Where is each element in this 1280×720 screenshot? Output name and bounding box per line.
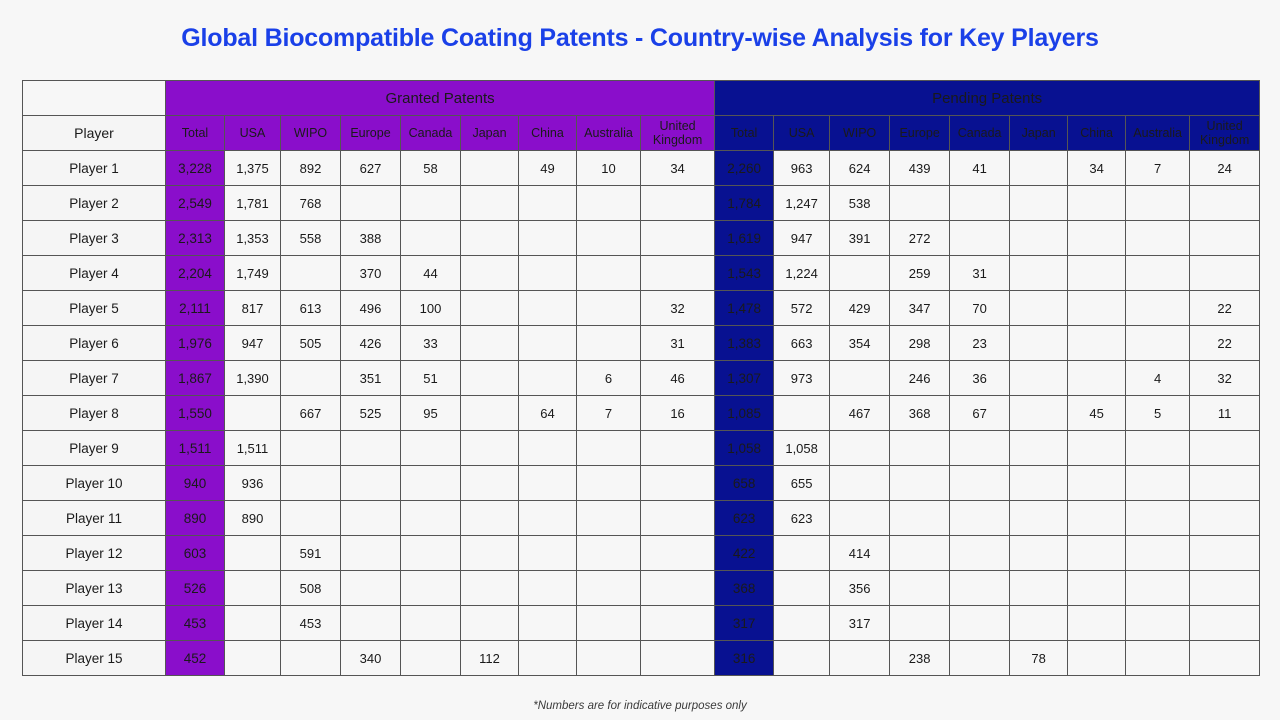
cell-pending-total: 368: [715, 571, 774, 606]
cell-granted-japan: [461, 151, 519, 186]
cell-granted-wipo: 508: [281, 571, 341, 606]
cell-granted-japan: [461, 361, 519, 396]
cell-pending-united-kingdom: [1190, 466, 1260, 501]
row-label-player: Player 6: [23, 326, 166, 361]
cell-granted-europe: [341, 606, 401, 641]
cell-pending-united-kingdom: [1190, 571, 1260, 606]
cell-granted-usa: [225, 536, 281, 571]
cell-granted-total: 890: [166, 501, 225, 536]
cell-granted-canada: [401, 431, 461, 466]
cell-pending-canada: 31: [950, 256, 1010, 291]
row-label-player: Player 4: [23, 256, 166, 291]
cell-granted-united-kingdom: 46: [641, 361, 715, 396]
cell-pending-total: 1,058: [715, 431, 774, 466]
cell-pending-wipo: [830, 466, 890, 501]
cell-pending-japan: [1010, 326, 1068, 361]
column-header-row: PlayerTotalUSAWIPOEuropeCanadaJapanChina…: [23, 116, 1260, 151]
col-header-granted-europe: Europe: [341, 116, 401, 151]
cell-granted-wipo: [281, 431, 341, 466]
table-row: Player 52,111817613496100321,47857242934…: [23, 291, 1260, 326]
cell-pending-wipo: 317: [830, 606, 890, 641]
group-header-granted: Granted Patents: [166, 81, 715, 116]
cell-granted-united-kingdom: [641, 641, 715, 676]
cell-granted-wipo: [281, 641, 341, 676]
cell-granted-total: 2,111: [166, 291, 225, 326]
page-root: Global Biocompatible Coating Patents - C…: [0, 0, 1280, 720]
cell-pending-china: [1068, 466, 1126, 501]
cell-pending-usa: 623: [774, 501, 830, 536]
table-row: Player 81,55066752595647161,085467368674…: [23, 396, 1260, 431]
cell-pending-australia: [1126, 186, 1190, 221]
table-row: Player 32,3131,3535583881,619947391272: [23, 221, 1260, 256]
cell-granted-canada: 100: [401, 291, 461, 326]
cell-granted-europe: 426: [341, 326, 401, 361]
cell-granted-canada: 58: [401, 151, 461, 186]
cell-pending-canada: [950, 431, 1010, 466]
cell-granted-australia: [577, 536, 641, 571]
cell-granted-australia: [577, 431, 641, 466]
row-label-player: Player 14: [23, 606, 166, 641]
table-row: Player 42,2041,749370441,5431,22425931: [23, 256, 1260, 291]
cell-pending-japan: [1010, 221, 1068, 256]
cell-granted-australia: [577, 291, 641, 326]
cell-granted-canada: [401, 536, 461, 571]
cell-pending-australia: 7: [1126, 151, 1190, 186]
cell-pending-united-kingdom: [1190, 256, 1260, 291]
page-title: Global Biocompatible Coating Patents - C…: [0, 24, 1280, 53]
cell-pending-china: [1068, 326, 1126, 361]
col-header-player: Player: [23, 116, 166, 151]
cell-granted-total: 2,204: [166, 256, 225, 291]
cell-granted-united-kingdom: 31: [641, 326, 715, 361]
cell-granted-usa: 1,781: [225, 186, 281, 221]
cell-granted-japan: [461, 431, 519, 466]
cell-pending-united-kingdom: 24: [1190, 151, 1260, 186]
cell-granted-japan: [461, 326, 519, 361]
cell-granted-china: [519, 641, 577, 676]
cell-pending-united-kingdom: [1190, 536, 1260, 571]
cell-pending-japan: [1010, 151, 1068, 186]
cell-granted-china: [519, 256, 577, 291]
cell-pending-japan: [1010, 501, 1068, 536]
cell-granted-europe: 370: [341, 256, 401, 291]
cell-pending-united-kingdom: [1190, 501, 1260, 536]
cell-pending-wipo: 414: [830, 536, 890, 571]
table-row: Player 14453453317317: [23, 606, 1260, 641]
cell-pending-wipo: [830, 431, 890, 466]
cell-pending-china: [1068, 606, 1126, 641]
group-header-row: Granted Patents Pending Patents: [23, 81, 1260, 116]
cell-granted-usa: 817: [225, 291, 281, 326]
cell-pending-wipo: 429: [830, 291, 890, 326]
row-label-player: Player 8: [23, 396, 166, 431]
cell-pending-australia: [1126, 536, 1190, 571]
cell-granted-china: [519, 431, 577, 466]
table-row: Player 71,8671,390351516461,307973246364…: [23, 361, 1260, 396]
cell-pending-europe: 368: [890, 396, 950, 431]
cell-pending-japan: 78: [1010, 641, 1068, 676]
cell-pending-usa: 1,058: [774, 431, 830, 466]
col-header-granted-total: Total: [166, 116, 225, 151]
cell-granted-total: 1,511: [166, 431, 225, 466]
cell-granted-china: [519, 501, 577, 536]
row-label-player: Player 12: [23, 536, 166, 571]
cell-pending-wipo: [830, 641, 890, 676]
cell-pending-usa: 1,224: [774, 256, 830, 291]
cell-pending-usa: 963: [774, 151, 830, 186]
cell-pending-usa: [774, 396, 830, 431]
cell-granted-total: 940: [166, 466, 225, 501]
cell-granted-wipo: 667: [281, 396, 341, 431]
cell-granted-usa: [225, 571, 281, 606]
cell-granted-australia: [577, 571, 641, 606]
cell-granted-japan: [461, 571, 519, 606]
col-header-granted-united-kingdom: United Kingdom: [641, 116, 715, 151]
patents-table: Granted Patents Pending Patents PlayerTo…: [22, 80, 1260, 676]
cell-granted-canada: [401, 221, 461, 256]
row-label-player: Player 7: [23, 361, 166, 396]
table-row: Player 61,97694750542633311,383663354298…: [23, 326, 1260, 361]
cell-pending-canada: [950, 571, 1010, 606]
cell-pending-canada: 23: [950, 326, 1010, 361]
cell-pending-europe: [890, 606, 950, 641]
cell-pending-united-kingdom: 22: [1190, 291, 1260, 326]
table-row: Player 10940936658655: [23, 466, 1260, 501]
cell-pending-europe: 347: [890, 291, 950, 326]
cell-pending-united-kingdom: [1190, 186, 1260, 221]
cell-granted-australia: [577, 256, 641, 291]
cell-pending-china: [1068, 641, 1126, 676]
cell-granted-australia: 10: [577, 151, 641, 186]
cell-pending-europe: 298: [890, 326, 950, 361]
cell-granted-united-kingdom: [641, 501, 715, 536]
cell-granted-total: 603: [166, 536, 225, 571]
cell-pending-united-kingdom: 11: [1190, 396, 1260, 431]
row-label-player: Player 10: [23, 466, 166, 501]
cell-pending-canada: 67: [950, 396, 1010, 431]
table-row: Player 22,5491,7817681,7841,247538: [23, 186, 1260, 221]
cell-granted-japan: [461, 221, 519, 256]
cell-pending-usa: [774, 571, 830, 606]
col-header-granted-australia: Australia: [577, 116, 641, 151]
cell-granted-usa: 890: [225, 501, 281, 536]
cell-granted-canada: [401, 501, 461, 536]
cell-pending-wipo: [830, 256, 890, 291]
cell-granted-united-kingdom: [641, 256, 715, 291]
cell-pending-australia: [1126, 291, 1190, 326]
cell-pending-wipo: 538: [830, 186, 890, 221]
cell-granted-china: [519, 326, 577, 361]
cell-granted-total: 2,313: [166, 221, 225, 256]
cell-pending-usa: 1,247: [774, 186, 830, 221]
cell-granted-united-kingdom: [641, 466, 715, 501]
cell-pending-japan: [1010, 186, 1068, 221]
cell-granted-canada: [401, 186, 461, 221]
cell-pending-canada: 41: [950, 151, 1010, 186]
cell-pending-canada: 36: [950, 361, 1010, 396]
cell-granted-europe: 351: [341, 361, 401, 396]
cell-pending-united-kingdom: 32: [1190, 361, 1260, 396]
cell-pending-japan: [1010, 431, 1068, 466]
col-header-pending-united-kingdom: United Kingdom: [1190, 116, 1260, 151]
cell-pending-usa: [774, 606, 830, 641]
cell-pending-europe: 246: [890, 361, 950, 396]
col-header-granted-canada: Canada: [401, 116, 461, 151]
cell-granted-china: [519, 221, 577, 256]
cell-granted-canada: [401, 641, 461, 676]
cell-pending-australia: [1126, 641, 1190, 676]
cell-granted-europe: [341, 501, 401, 536]
cell-pending-canada: [950, 641, 1010, 676]
cell-pending-australia: [1126, 326, 1190, 361]
row-label-player: Player 3: [23, 221, 166, 256]
cell-pending-europe: 272: [890, 221, 950, 256]
cell-granted-japan: 112: [461, 641, 519, 676]
cell-granted-australia: [577, 326, 641, 361]
cell-granted-united-kingdom: [641, 431, 715, 466]
cell-granted-total: 452: [166, 641, 225, 676]
table-row: Player 12603591422414: [23, 536, 1260, 571]
cell-granted-united-kingdom: [641, 536, 715, 571]
row-label-player: Player 11: [23, 501, 166, 536]
cell-granted-china: 49: [519, 151, 577, 186]
cell-granted-china: 64: [519, 396, 577, 431]
cell-pending-australia: [1126, 571, 1190, 606]
cell-granted-europe: 525: [341, 396, 401, 431]
cell-granted-japan: [461, 291, 519, 326]
cell-pending-united-kingdom: [1190, 606, 1260, 641]
cell-granted-china: [519, 466, 577, 501]
cell-pending-china: [1068, 431, 1126, 466]
cell-granted-united-kingdom: [641, 571, 715, 606]
cell-pending-china: [1068, 291, 1126, 326]
cell-pending-united-kingdom: 22: [1190, 326, 1260, 361]
cell-pending-wipo: 391: [830, 221, 890, 256]
cell-granted-wipo: [281, 256, 341, 291]
cell-granted-usa: 1,375: [225, 151, 281, 186]
cell-pending-total: 1,383: [715, 326, 774, 361]
cell-pending-total: 422: [715, 536, 774, 571]
group-header-pending: Pending Patents: [715, 81, 1260, 116]
cell-granted-canada: 95: [401, 396, 461, 431]
cell-pending-usa: 572: [774, 291, 830, 326]
cell-pending-australia: 4: [1126, 361, 1190, 396]
cell-granted-total: 3,228: [166, 151, 225, 186]
cell-granted-united-kingdom: [641, 606, 715, 641]
cell-pending-europe: [890, 571, 950, 606]
cell-granted-japan: [461, 606, 519, 641]
cell-pending-australia: [1126, 431, 1190, 466]
cell-pending-australia: [1126, 256, 1190, 291]
cell-granted-australia: [577, 501, 641, 536]
cell-pending-total: 316: [715, 641, 774, 676]
cell-granted-total: 1,976: [166, 326, 225, 361]
table-row: Player 13526508368356: [23, 571, 1260, 606]
cell-granted-japan: [461, 256, 519, 291]
cell-granted-wipo: [281, 361, 341, 396]
cell-granted-wipo: 613: [281, 291, 341, 326]
cell-pending-japan: [1010, 571, 1068, 606]
cell-granted-europe: 496: [341, 291, 401, 326]
cell-granted-australia: [577, 606, 641, 641]
footnote: *Numbers are for indicative purposes onl…: [0, 700, 1280, 712]
cell-granted-wipo: [281, 466, 341, 501]
table-row: Player 11890890623623: [23, 501, 1260, 536]
cell-granted-usa: 947: [225, 326, 281, 361]
cell-pending-australia: [1126, 466, 1190, 501]
row-label-player: Player 9: [23, 431, 166, 466]
cell-granted-china: [519, 186, 577, 221]
cell-granted-australia: [577, 466, 641, 501]
cell-pending-total: 658: [715, 466, 774, 501]
col-header-pending-canada: Canada: [950, 116, 1010, 151]
cell-pending-japan: [1010, 536, 1068, 571]
cell-pending-usa: 947: [774, 221, 830, 256]
cell-granted-europe: 340: [341, 641, 401, 676]
row-label-player: Player 2: [23, 186, 166, 221]
cell-pending-canada: [950, 501, 1010, 536]
cell-pending-australia: 5: [1126, 396, 1190, 431]
cell-granted-china: [519, 606, 577, 641]
cell-granted-usa: [225, 641, 281, 676]
cell-granted-japan: [461, 186, 519, 221]
cell-pending-canada: [950, 466, 1010, 501]
table-body: Player 13,2281,375892627584910342,260963…: [23, 151, 1260, 676]
cell-pending-total: 1,543: [715, 256, 774, 291]
table-row: Player 91,5111,5111,0581,058: [23, 431, 1260, 466]
cell-granted-china: [519, 536, 577, 571]
cell-pending-canada: [950, 186, 1010, 221]
cell-pending-europe: [890, 501, 950, 536]
cell-granted-europe: [341, 536, 401, 571]
cell-granted-total: 1,867: [166, 361, 225, 396]
cell-pending-china: [1068, 221, 1126, 256]
col-header-pending-japan: Japan: [1010, 116, 1068, 151]
cell-granted-japan: [461, 396, 519, 431]
cell-granted-japan: [461, 536, 519, 571]
cell-pending-canada: [950, 221, 1010, 256]
cell-granted-wipo: 505: [281, 326, 341, 361]
table-head: Granted Patents Pending Patents PlayerTo…: [23, 81, 1260, 151]
cell-pending-europe: [890, 431, 950, 466]
cell-pending-china: 45: [1068, 396, 1126, 431]
cell-granted-canada: [401, 606, 461, 641]
col-header-pending-europe: Europe: [890, 116, 950, 151]
cell-pending-australia: [1126, 501, 1190, 536]
cell-pending-europe: [890, 466, 950, 501]
col-header-pending-australia: Australia: [1126, 116, 1190, 151]
cell-pending-japan: [1010, 396, 1068, 431]
cell-pending-total: 1,085: [715, 396, 774, 431]
cell-pending-japan: [1010, 361, 1068, 396]
cell-granted-usa: [225, 606, 281, 641]
cell-pending-japan: [1010, 291, 1068, 326]
cell-granted-wipo: 453: [281, 606, 341, 641]
patents-table-container: Granted Patents Pending Patents PlayerTo…: [22, 80, 1258, 676]
cell-granted-japan: [461, 501, 519, 536]
cell-granted-total: 526: [166, 571, 225, 606]
cell-pending-usa: 663: [774, 326, 830, 361]
col-header-pending-total: Total: [715, 116, 774, 151]
cell-granted-australia: [577, 186, 641, 221]
cell-granted-canada: [401, 466, 461, 501]
cell-pending-wipo: 356: [830, 571, 890, 606]
cell-pending-europe: 259: [890, 256, 950, 291]
table-row: Player 1545234011231623878: [23, 641, 1260, 676]
cell-pending-china: [1068, 186, 1126, 221]
cell-pending-total: 1,307: [715, 361, 774, 396]
cell-pending-usa: [774, 641, 830, 676]
cell-granted-australia: [577, 641, 641, 676]
cell-pending-europe: 238: [890, 641, 950, 676]
cell-pending-europe: [890, 186, 950, 221]
cell-pending-usa: 655: [774, 466, 830, 501]
cell-granted-united-kingdom: [641, 221, 715, 256]
cell-granted-wipo: [281, 501, 341, 536]
col-header-pending-usa: USA: [774, 116, 830, 151]
cell-pending-wipo: 624: [830, 151, 890, 186]
col-header-pending-china: China: [1068, 116, 1126, 151]
cell-pending-china: [1068, 536, 1126, 571]
cell-granted-japan: [461, 466, 519, 501]
cell-granted-china: [519, 361, 577, 396]
cell-pending-usa: 973: [774, 361, 830, 396]
cell-granted-wipo: 558: [281, 221, 341, 256]
cell-granted-europe: [341, 431, 401, 466]
col-header-granted-china: China: [519, 116, 577, 151]
cell-pending-china: [1068, 501, 1126, 536]
cell-granted-canada: 51: [401, 361, 461, 396]
cell-pending-wipo: 354: [830, 326, 890, 361]
cell-pending-total: 623: [715, 501, 774, 536]
cell-granted-australia: 7: [577, 396, 641, 431]
cell-pending-total: 1,619: [715, 221, 774, 256]
cell-pending-total: 1,784: [715, 186, 774, 221]
cell-granted-canada: 44: [401, 256, 461, 291]
cell-pending-canada: [950, 606, 1010, 641]
cell-pending-japan: [1010, 256, 1068, 291]
row-label-player: Player 13: [23, 571, 166, 606]
cell-granted-united-kingdom: 34: [641, 151, 715, 186]
table-row: Player 13,2281,375892627584910342,260963…: [23, 151, 1260, 186]
cell-granted-total: 1,550: [166, 396, 225, 431]
cell-granted-united-kingdom: 32: [641, 291, 715, 326]
col-header-pending-wipo: WIPO: [830, 116, 890, 151]
cell-pending-total: 317: [715, 606, 774, 641]
cell-granted-canada: [401, 571, 461, 606]
cell-pending-china: [1068, 361, 1126, 396]
cell-pending-wipo: [830, 501, 890, 536]
cell-granted-europe: [341, 571, 401, 606]
cell-granted-europe: 627: [341, 151, 401, 186]
cell-granted-australia: 6: [577, 361, 641, 396]
cell-pending-united-kingdom: [1190, 641, 1260, 676]
cell-granted-australia: [577, 221, 641, 256]
group-header-spacer: [23, 81, 166, 116]
cell-pending-japan: [1010, 466, 1068, 501]
cell-granted-usa: 1,749: [225, 256, 281, 291]
cell-pending-usa: [774, 536, 830, 571]
row-label-player: Player 5: [23, 291, 166, 326]
col-header-granted-usa: USA: [225, 116, 281, 151]
cell-pending-europe: [890, 536, 950, 571]
cell-granted-europe: 388: [341, 221, 401, 256]
cell-granted-wipo: 591: [281, 536, 341, 571]
cell-pending-canada: 70: [950, 291, 1010, 326]
cell-granted-europe: [341, 466, 401, 501]
cell-granted-total: 2,549: [166, 186, 225, 221]
cell-granted-usa: 1,511: [225, 431, 281, 466]
